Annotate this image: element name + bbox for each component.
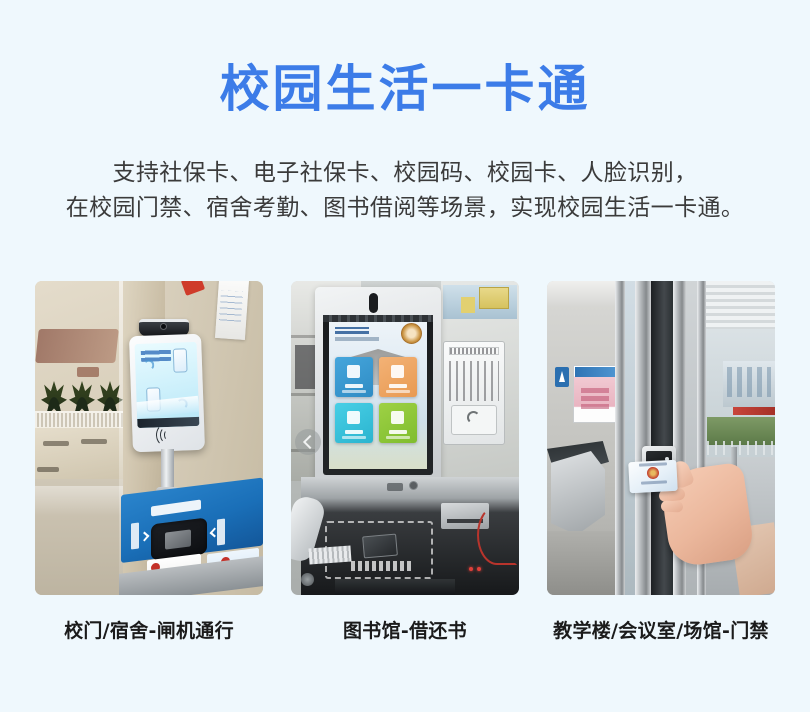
book-stack: [308, 546, 351, 565]
qr-scanner-lens: [165, 529, 191, 549]
page-title: 校园生活一卡通: [0, 58, 810, 120]
scene-card-library[interactable]: 图书馆-借还书: [291, 281, 519, 676]
chevron-left-icon[interactable]: [295, 429, 321, 455]
door-frame-mullion: [615, 281, 625, 595]
kiosk-knob: [301, 573, 314, 586]
door-frame-mullion: [635, 281, 651, 595]
sign-body-text: [449, 361, 499, 401]
library-photo: [291, 281, 519, 595]
counter-slot: [43, 441, 69, 446]
wayfinding-sign-icon: [555, 367, 569, 387]
camera-lens-icon: [161, 324, 166, 329]
search-icon: [347, 411, 360, 424]
outdoor-railing: [707, 441, 775, 455]
indoor-floor: [547, 531, 619, 595]
kiosk-tile-renew-sublabel: [386, 436, 410, 439]
access-photo: [547, 281, 775, 595]
kiosk-tile-query-sublabel: [342, 436, 366, 439]
scene-caption-library: 图书馆-借还书: [343, 616, 467, 643]
wall-poster: [479, 287, 509, 309]
renew-icon: [391, 411, 404, 424]
kiosk-tile-borrow-label: [345, 384, 363, 388]
kiosk-screen-top-bar: [323, 315, 433, 322]
finger: [661, 501, 683, 513]
wall-poster: [461, 297, 475, 313]
nfc-icon: [467, 411, 480, 424]
kiosk-tile-borrow-sublabel: [342, 390, 366, 393]
kiosk-screen-title: [335, 327, 369, 334]
outdoor-canopy: [706, 281, 775, 329]
wall-calligraphy: [35, 329, 119, 363]
rfid-zone-label: [351, 561, 411, 571]
terminal-screen[interactable]: [135, 342, 200, 428]
sign-header: [449, 347, 499, 355]
book-on-reader: [362, 534, 398, 559]
deck-sensor-icon: [409, 481, 418, 490]
nfc-arc-icon: [156, 424, 175, 447]
outdoor-red-banner: [733, 407, 775, 415]
subtitle-block: 支持社保卡、电子社保卡、校园码、校园卡、人脸识别， 在校园门禁、宿舍考勤、图书借…: [0, 156, 810, 226]
counter-slot: [81, 439, 107, 444]
planter-fence: [35, 411, 127, 427]
kiosk-tile-renew-label: [389, 430, 407, 434]
wall-notice-text: [219, 290, 243, 321]
status-led: [477, 567, 481, 571]
notice-board-header: [575, 367, 615, 377]
kiosk-tile-query-label: [345, 430, 363, 434]
floor-reflection: [35, 486, 131, 516]
kiosk-screen-subtitle: [335, 337, 379, 341]
outdoor-building-windows: [727, 367, 771, 397]
scene-card-access[interactable]: 教学楼/会议室/场馆-门禁: [547, 281, 775, 676]
phone-illustration-icon: [173, 348, 188, 372]
scene-card-row: 校门/宿舍-闸机通行: [35, 281, 775, 676]
indoor-ceiling: [547, 281, 619, 307]
notice-board-text: [581, 387, 609, 409]
subtitle-line-2: 在校园门禁、宿舍考勤、图书借阅等场景，实现校园生活一卡通。: [0, 191, 810, 226]
wall-calligraphy-seal: [77, 367, 99, 377]
red-cable: [477, 505, 517, 565]
return-icon: [391, 365, 404, 378]
kiosk-tile-return-sublabel: [386, 390, 410, 393]
scene-caption-access: 教学楼/会议室/场馆-门禁: [553, 616, 769, 643]
scene-caption-gate: 校门/宿舍-闸机通行: [64, 616, 234, 643]
kiosk-camera-icon: [369, 293, 378, 313]
status-led: [469, 567, 473, 571]
scene-card-gate[interactable]: 校门/宿舍-闸机通行: [35, 281, 263, 676]
borrow-icon: [347, 365, 360, 378]
counter-slot: [37, 467, 59, 472]
kiosk-tile-return-label: [389, 384, 407, 388]
glass-pane: [625, 281, 635, 595]
door-frame-dark: [651, 281, 673, 595]
kiosk-brand-logo: [387, 483, 403, 491]
school-emblem-icon: [401, 323, 422, 344]
gate-photo: [35, 281, 263, 595]
kiosk-front-panel: [335, 579, 455, 595]
terminal-nfc-zone[interactable]: [153, 425, 184, 444]
turnstile-left-text: [131, 523, 139, 550]
subtitle-line-1: 支持社保卡、电子社保卡、校园码、校园卡、人脸识别，: [0, 156, 810, 191]
nfc-wave-icon: [143, 359, 154, 370]
